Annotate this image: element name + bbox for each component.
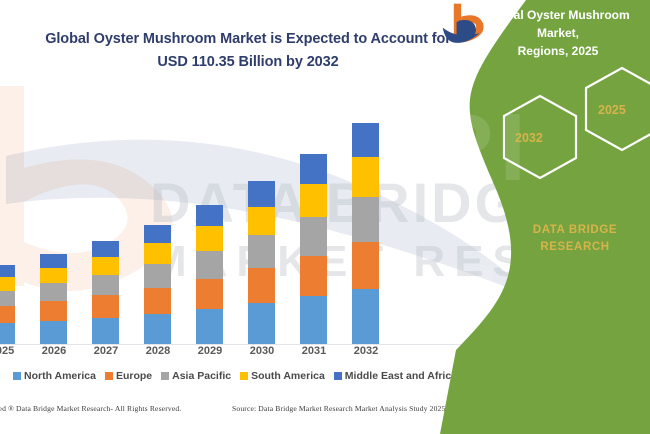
bar-segment-2028-s4[interactable] (144, 225, 171, 243)
bar-segment-2030-s0[interactable] (248, 303, 275, 344)
page-title-line1: Global Oyster Mushroom Market is Expecte… (45, 31, 451, 47)
bar-segment-2031-s4[interactable] (300, 154, 327, 184)
bar-segment-2025-s0[interactable] (0, 323, 15, 344)
bar-segment-2027-s4[interactable] (92, 241, 119, 257)
bar-group-2025[interactable] (0, 265, 15, 344)
panel-brand-line1: DATA BRIDGE (533, 224, 617, 236)
legend-swatch-icon (240, 372, 248, 380)
bar-segment-2025-s4[interactable] (0, 265, 15, 277)
bar-group-2026[interactable] (40, 254, 67, 344)
bar-group-2030[interactable] (248, 181, 275, 344)
x-tick-2032: 2032 (341, 345, 391, 357)
bar-group-2032[interactable] (352, 123, 379, 344)
bar-segment-2025-s3[interactable] (0, 277, 15, 291)
hexagon-label-2025: 2025 (598, 103, 626, 117)
bar-segment-2028-s0[interactable] (144, 314, 171, 344)
bar-segment-2032-s0[interactable] (352, 289, 379, 344)
bar-segment-2032-s1[interactable] (352, 242, 379, 289)
bar-segment-2027-s3[interactable] (92, 257, 119, 275)
bar-group-2028[interactable] (144, 225, 171, 344)
bar-segment-2027-s1[interactable] (92, 295, 119, 317)
x-tick-2029: 2029 (185, 345, 235, 357)
bar-segment-2030-s3[interactable] (248, 207, 275, 236)
x-tick-2027: 2027 (81, 345, 131, 357)
stacked-bar-chart (0, 95, 500, 345)
legend-item-0[interactable]: North America (13, 370, 96, 382)
x-tick-2030: 2030 (237, 345, 287, 357)
bar-segment-2026-s3[interactable] (40, 268, 67, 284)
x-tick-2031: 2031 (289, 345, 339, 357)
green-side-panel: RI M Global Oyster Mushroom Market, Regi… (440, 0, 650, 434)
bar-segment-2029-s1[interactable] (196, 279, 223, 309)
x-axis-tick-labels: 20252026202720282029203020312032 (0, 345, 500, 367)
legend-item-1[interactable]: Europe (105, 370, 152, 382)
bar-segment-2030-s1[interactable] (248, 268, 275, 303)
bar-segment-2028-s1[interactable] (144, 288, 171, 313)
legend-item-3[interactable]: South America (240, 370, 325, 382)
legend-swatch-icon (13, 372, 21, 380)
bar-segment-2029-s4[interactable] (196, 205, 223, 226)
hexagon-group (440, 0, 650, 434)
bar-segment-2031-s1[interactable] (300, 256, 327, 296)
legend-label: South America (251, 370, 325, 382)
bar-segment-2025-s2[interactable] (0, 291, 15, 307)
chart-legend: North AmericaEuropeAsia PacificSouth Ame… (0, 370, 470, 382)
corner-logo-b-icon (440, 0, 486, 46)
bar-group-2027[interactable] (92, 241, 119, 344)
bar-segment-2027-s2[interactable] (92, 275, 119, 296)
panel-brand: DATA BRIDGE RESEARCH (500, 222, 650, 257)
footer-source: Source: Data Bridge Market Research Mark… (232, 404, 445, 413)
panel-brand-line2: RESEARCH (540, 241, 609, 253)
legend-swatch-icon (334, 372, 342, 380)
x-tick-2025: 2025 (0, 345, 27, 357)
bar-segment-2026-s2[interactable] (40, 283, 67, 301)
chart-plot-area (0, 95, 500, 345)
footer-copyright: Protected ® Data Bridge Market Research-… (0, 404, 181, 413)
bar-segment-2031-s2[interactable] (300, 217, 327, 256)
bar-segment-2027-s0[interactable] (92, 318, 119, 344)
bar-group-2029[interactable] (196, 205, 223, 344)
legend-swatch-icon (105, 372, 113, 380)
bar-segment-2032-s2[interactable] (352, 197, 379, 242)
legend-label: Asia Pacific (172, 370, 231, 382)
bar-segment-2026-s1[interactable] (40, 301, 67, 321)
bar-segment-2031-s3[interactable] (300, 184, 327, 218)
bar-segment-2032-s3[interactable] (352, 157, 379, 196)
page-title: Global Oyster Mushroom Market is Expecte… (8, 28, 488, 75)
page-title-line2: USD 110.35 Billion by 2032 (157, 54, 338, 70)
bar-group-2031[interactable] (300, 154, 327, 344)
bar-segment-2030-s2[interactable] (248, 235, 275, 268)
bar-segment-2025-s1[interactable] (0, 306, 15, 323)
bar-segment-2026-s4[interactable] (40, 254, 67, 267)
x-tick-2026: 2026 (29, 345, 79, 357)
bar-segment-2031-s0[interactable] (300, 296, 327, 344)
legend-label: Europe (116, 370, 152, 382)
x-tick-2028: 2028 (133, 345, 183, 357)
bar-segment-2029-s2[interactable] (196, 251, 223, 279)
legend-swatch-icon (161, 372, 169, 380)
bar-segment-2030-s4[interactable] (248, 181, 275, 206)
bar-segment-2026-s0[interactable] (40, 321, 67, 344)
infographic-root: DATA BRIDGE MARKET RESEARCH Global Oyste… (0, 0, 650, 434)
bar-segment-2032-s4[interactable] (352, 123, 379, 158)
bar-segment-2029-s3[interactable] (196, 226, 223, 251)
bar-segment-2028-s3[interactable] (144, 243, 171, 264)
legend-item-4[interactable]: Middle East and Africa (334, 370, 457, 382)
bar-segment-2028-s2[interactable] (144, 264, 171, 288)
legend-label: North America (24, 370, 96, 382)
legend-item-2[interactable]: Asia Pacific (161, 370, 231, 382)
bar-segment-2029-s0[interactable] (196, 309, 223, 344)
hexagon-label-2032: 2032 (515, 131, 543, 145)
